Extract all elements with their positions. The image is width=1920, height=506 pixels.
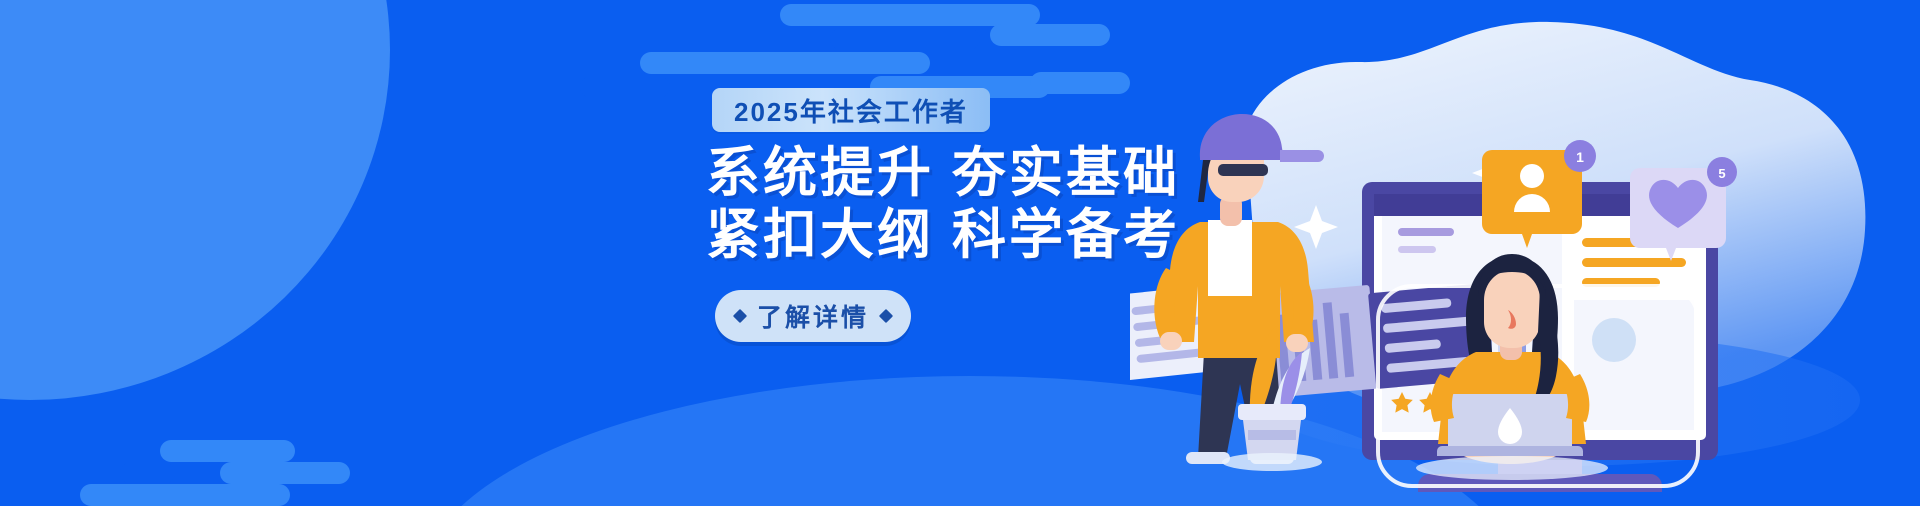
diamond-right-icon xyxy=(879,309,893,323)
campaign-badge-label: 2025年社会工作者 xyxy=(734,92,968,129)
top-left-circle-decor xyxy=(0,0,390,400)
diamond-left-icon xyxy=(733,309,747,323)
headline-line-1: 系统提升 夯实基础 xyxy=(706,142,1180,204)
hero-illustration: 1 5 xyxy=(1130,0,1920,506)
heart-badge-count: 5 xyxy=(1718,166,1725,181)
headline-line-2: 紧扣大纲 科学备考 xyxy=(706,204,1180,266)
notification-heart-card: 5 xyxy=(1630,157,1737,261)
user-badge-count: 1 xyxy=(1576,149,1584,165)
learn-more-label: 了解详情 xyxy=(757,298,869,334)
promo-banner: 2025年社会工作者 系统提升 夯实基础 紧扣大纲 科学备考 了解详情 xyxy=(0,0,1920,506)
learn-more-button[interactable]: 了解详情 xyxy=(715,290,911,342)
campaign-badge: 2025年社会工作者 xyxy=(712,88,990,132)
bottom-stripes-decor xyxy=(120,440,460,506)
page-title: 系统提升 夯实基础 紧扣大纲 科学备考 xyxy=(706,142,1180,266)
